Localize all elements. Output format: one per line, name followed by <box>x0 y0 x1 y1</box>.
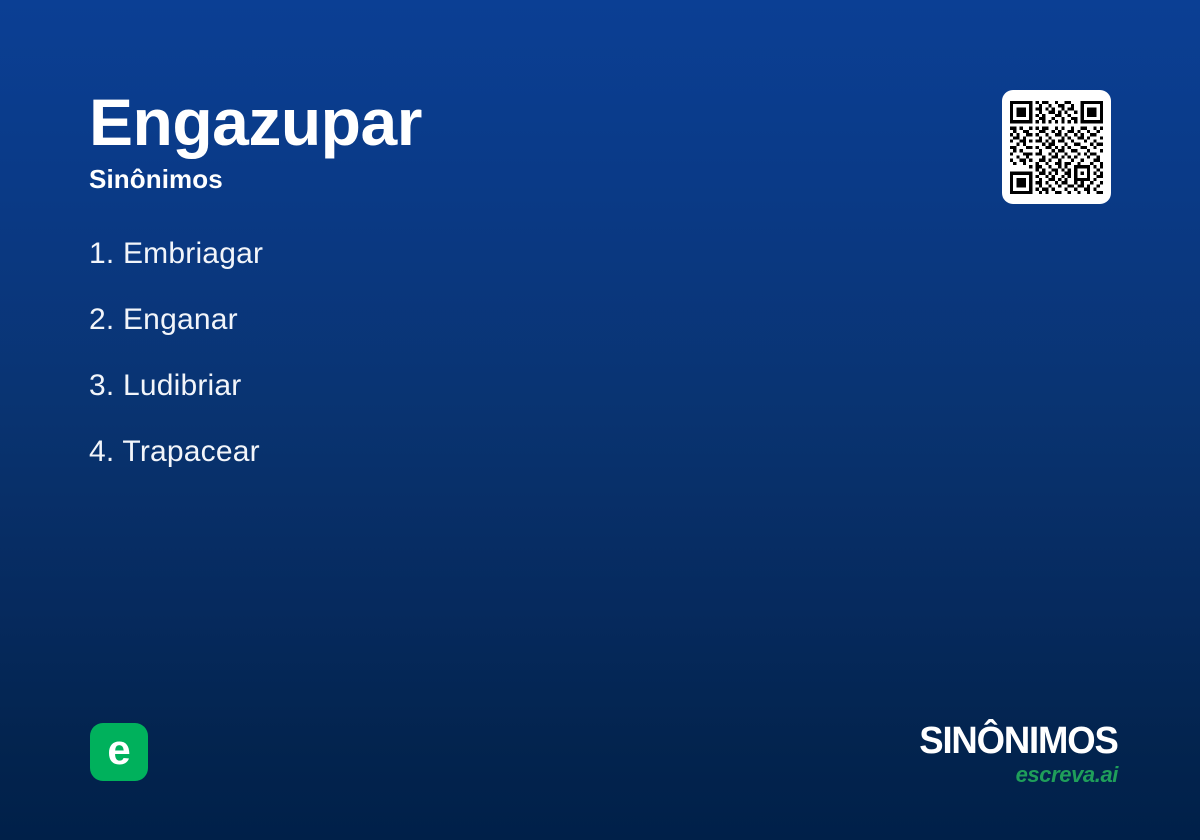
header: Engazupar Sinônimos <box>89 86 889 194</box>
list-item-index: 2. <box>89 303 114 336</box>
page-subtitle: Sinônimos <box>89 164 889 194</box>
brand-mark-letter: e <box>107 729 130 771</box>
list-item-label: Ludibriar <box>123 369 242 402</box>
list-item-index: 3. <box>89 369 114 402</box>
escreva-e-logo-icon[interactable]: e <box>90 723 148 781</box>
logotype-main-text: SINÔNIMOS <box>920 722 1118 760</box>
synonyms-list: 1. Embriagar 2. Enganar 3. Ludibriar 4. … <box>89 236 789 500</box>
list-item-index: 1. <box>89 237 114 270</box>
qr-code-card[interactable] <box>1002 90 1111 204</box>
logotype-sub-text: escreva.ai <box>911 763 1118 787</box>
list-item: 2. Enganar <box>89 302 789 338</box>
sinonimos-logotype[interactable]: SINÔNIMOS escreva.ai <box>911 722 1118 787</box>
list-item-label: Trapacear <box>122 435 259 468</box>
page-title: Engazupar <box>89 86 889 158</box>
list-item-index: 4. <box>89 435 114 468</box>
synonyms-card: Engazupar Sinônimos 1. Embriagar 2. Enga… <box>0 0 1200 840</box>
list-item: 4. Trapacear <box>89 434 789 470</box>
qr-code-icon <box>1010 101 1103 194</box>
list-item-label: Enganar <box>123 303 238 336</box>
list-item-label: Embriagar <box>123 237 263 270</box>
list-item: 1. Embriagar <box>89 236 789 272</box>
list-item: 3. Ludibriar <box>89 368 789 404</box>
